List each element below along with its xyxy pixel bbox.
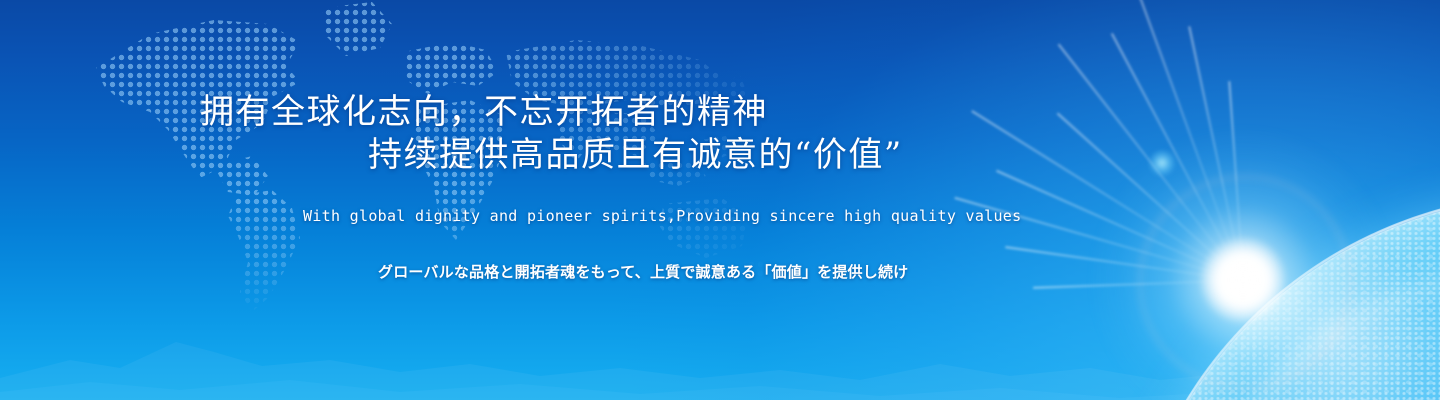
sun-ray (996, 170, 1243, 281)
planet-texture (1125, 196, 1440, 400)
sun-ray (1188, 26, 1244, 281)
planet-rim-wrap (1125, 196, 1440, 400)
dotted-world-map (0, 0, 790, 320)
sun-ray (954, 197, 1243, 281)
headline-chinese-line2: 持续提供高品质且有诚意的“价值” (368, 138, 903, 172)
banner-copy: 拥有全球化志向，不忘开拓者的精神 持续提供高品质且有诚意的“价值” With g… (0, 0, 1440, 400)
subline-japanese: グローバルな品格と開拓者魂をもって、上質で誠意ある「価値」を提供し続け (378, 261, 908, 282)
headline-chinese-line1: 拥有全球化志向，不忘开拓者的精神 (200, 95, 768, 129)
subline-english: With global dignity and pioneer spirits,… (303, 207, 1021, 225)
hero-banner: 拥有全球化志向，不忘开拓者的精神 持续提供高品质且有诚意的“价值” With g… (0, 0, 1440, 400)
planet-atmosphere-rim (1122, 193, 1440, 400)
sun-ray (971, 111, 1243, 282)
sun-ray (1005, 247, 1243, 282)
background-glow (0, 0, 1440, 400)
sun-ray (1129, 0, 1243, 281)
sun-ray (1033, 280, 1243, 289)
mountain-silhouette (0, 260, 1440, 400)
sun-ray (1228, 81, 1243, 281)
sun-halo (1139, 176, 1351, 388)
planet-swirl (1177, 265, 1440, 400)
planet-globe (1125, 196, 1440, 400)
sun-ray (1057, 113, 1244, 281)
sun-ray (1058, 44, 1244, 281)
sun-ray (1111, 33, 1244, 281)
lens-flare-dot (1149, 150, 1175, 176)
